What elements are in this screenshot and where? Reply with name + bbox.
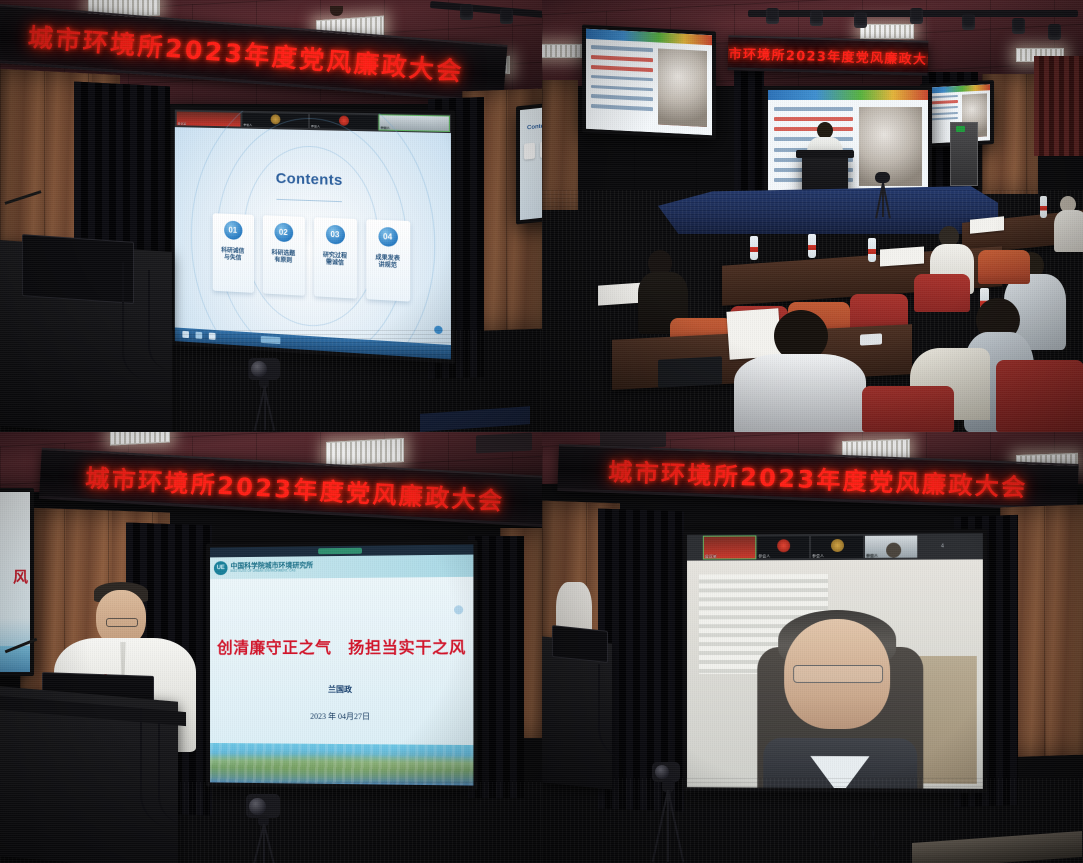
slide-headline: 创清廉守正之气 扬担当实干之风	[210, 633, 473, 658]
vc-thumbnail[interactable]: 参会人	[865, 536, 917, 558]
slide-text-line-highlight	[591, 65, 653, 72]
exit-sign-icon	[956, 126, 965, 132]
slide-body	[774, 107, 921, 186]
projection-screen-surface: UE 中国科学院城市环境研究所 INSTITUTE OF URBAN ENVIR…	[210, 544, 473, 785]
stage-spotlight	[1012, 18, 1025, 34]
vc-thumbnail-label: 参会人	[812, 554, 824, 558]
remote-participant-video	[687, 559, 983, 788]
vc-thumbnail-label: 会议室	[178, 122, 186, 125]
side-screen-right: Contents	[516, 101, 542, 224]
projection-screen: 会议室 参会人 参会人 参会人 4	[683, 529, 987, 793]
water-bottle	[808, 234, 816, 258]
slide-decor-dot	[454, 605, 463, 614]
slide-text-line	[774, 107, 853, 111]
cable	[598, 664, 630, 760]
contents-card: 01 科研诚信 与失信	[212, 213, 253, 293]
paper-document	[880, 246, 924, 266]
projection-screen: UE 中国科学院城市环境研究所 INSTITUTE OF URBAN ENVIR…	[206, 540, 477, 789]
camera-tripod	[238, 794, 294, 863]
camera-lens-icon	[251, 361, 267, 377]
stage-spotlight	[854, 12, 867, 28]
vc-avatar-icon	[831, 539, 844, 552]
paragraph-slide	[768, 90, 928, 194]
projection-screen-surface	[768, 90, 928, 194]
contents-card: 02 科研选题 有原则	[262, 215, 304, 296]
vc-participant-head	[886, 542, 901, 557]
contents-card-number: 03	[325, 224, 344, 244]
side-screen-surface	[586, 29, 712, 136]
slide-text-line	[591, 75, 653, 82]
projection-screen	[764, 86, 932, 198]
vc-thumbnail[interactable]: 会议室	[704, 536, 755, 558]
toolbar-pill[interactable]	[318, 548, 362, 554]
speaker-glasses	[106, 618, 138, 627]
contents-card: 03 研究过程 需诚信	[313, 217, 356, 298]
audience-member-foreground	[734, 310, 864, 432]
cable	[158, 720, 186, 824]
contents-card: 04 成果发表 讲规范	[366, 219, 410, 301]
camera-lens-icon	[655, 765, 669, 779]
projection-screen-surface: 会议室 参会人 参会人 参会人	[175, 110, 451, 360]
contents-card-row: 01 科研诚信 与失信 02 科研选题 有原则 03 研究过程 需诚信 04	[175, 211, 451, 303]
contents-card-label: 科研诚信 与失信	[221, 247, 244, 263]
stage-curtain-left	[734, 64, 764, 194]
vc-thumbnail[interactable]: 参会人	[757, 536, 809, 558]
title-slide: UE 中国科学院城市环境研究所 INSTITUTE OF URBAN ENVIR…	[210, 555, 473, 786]
contents-card-number: 02	[274, 222, 293, 242]
camera-body	[875, 172, 890, 183]
org-logo-icon: UE	[214, 561, 228, 575]
stage-spotlight	[766, 8, 779, 24]
led-banner-text: 城市环境所2023年度党风廉政大会	[728, 42, 929, 67]
contents-slide: Contents 01 科研诚信 与失信 02 科研选题 有原则 03	[175, 127, 451, 345]
contents-card-number: 04	[378, 226, 397, 246]
ceiling-vent	[476, 433, 532, 454]
podium-monitor	[22, 234, 134, 304]
water-bottle	[868, 238, 876, 262]
water-bottle	[750, 236, 758, 260]
projection-screen-surface: 会议室 参会人 参会人 参会人 4	[687, 533, 983, 789]
theater-seat	[978, 250, 1030, 284]
slide-text-column	[591, 45, 653, 124]
led-banner-text: 城市环境所2023年度党风廉政大会	[608, 451, 1029, 502]
slide-text-line	[591, 45, 653, 52]
slide-color-bar	[924, 84, 990, 93]
contents-card-label: 科研选题 有原则	[272, 250, 296, 266]
side-screen-left	[582, 24, 716, 139]
stage-spotlight	[910, 8, 923, 24]
tripod-leg	[264, 386, 266, 430]
water-bottle	[1040, 196, 1047, 218]
vc-thumbnail-label: 会议室	[705, 555, 717, 559]
vc-thumbnail[interactable]: 参会人	[811, 536, 863, 558]
slide-text-line-highlight	[774, 117, 853, 121]
theater-seat	[996, 360, 1083, 432]
org-logo-text-group: 中国科学院城市环境研究所 INSTITUTE OF URBAN ENVIRONM…	[230, 562, 313, 573]
ceiling-light	[326, 438, 404, 466]
cable	[148, 270, 172, 370]
photo-collage: 城市环境所2023年度党风廉政大会 Contents 会议室	[0, 0, 1083, 863]
audience-member	[1054, 196, 1083, 252]
vc-avatar-icon	[777, 539, 790, 552]
ceiling-light	[542, 44, 582, 58]
person-body	[1054, 210, 1083, 252]
contents-card-number: 01	[224, 220, 242, 239]
stage-spotlight	[460, 4, 473, 20]
tripod-leg	[263, 824, 265, 863]
participant-glasses	[793, 665, 884, 683]
stage-spotlight	[1048, 24, 1061, 40]
side-curtain	[1034, 56, 1083, 156]
podium-top	[796, 150, 854, 158]
tripod-leg	[667, 790, 684, 863]
panel-bottom-right: 城市环境所2023年度党风廉政大会 会议室 参会人 参会人	[542, 432, 1083, 863]
video-call-main-view	[687, 559, 983, 788]
panel-bottom-left: 城市环境所2023年度党风廉政大会 风 UE	[0, 432, 542, 863]
video-call-thumbnail-strip: 会议室 参会人 参会人 参会人 4	[687, 533, 983, 560]
org-logo-bar: UE 中国科学院城市环境研究所 INSTITUTE OF URBAN ENVIR…	[210, 555, 473, 580]
tripod-leg	[667, 790, 669, 862]
slide-date: 2023 年 04月27日	[210, 710, 473, 722]
laptop	[658, 356, 722, 387]
slide-text-line-highlight	[591, 55, 653, 62]
slide-text-line	[591, 104, 653, 111]
person-body	[734, 354, 866, 432]
contents-card-label: 研究过程 需诚信	[323, 252, 347, 268]
ceiling-light	[860, 24, 914, 39]
org-name-english: INSTITUTE OF URBAN ENVIRONMENT, CAS	[230, 569, 313, 573]
slide-text-line	[591, 94, 653, 101]
stage-spotlight	[962, 14, 975, 30]
vc-thumbnail-label: 参会人	[758, 554, 770, 558]
side-screen-card	[524, 143, 535, 160]
stage-spotlight	[810, 10, 823, 26]
side-screen-title: Contents	[522, 122, 542, 132]
vc-participant-count: 4	[919, 535, 965, 557]
vc-thumbnail-label: 参会人	[866, 554, 878, 558]
stage-spotlight	[500, 8, 513, 24]
camera-tripod	[870, 172, 896, 220]
slide-color-bar	[768, 90, 928, 100]
camera-lens-icon	[249, 798, 266, 815]
slide-color-bar	[586, 29, 712, 46]
contents-card-label: 成果发表 讲规范	[375, 255, 400, 271]
projection-screen: 会议室 参会人 参会人 参会人	[171, 106, 455, 364]
slide-body	[591, 45, 707, 127]
camera-tripod	[240, 358, 290, 432]
slide-presenter-name: 兰国政	[210, 683, 473, 695]
panel-top-left: 城市环境所2023年度党风廉政大会 Contents 会议室	[0, 0, 542, 432]
slide-text-line	[591, 84, 653, 91]
side-screen-surface: Contents	[520, 106, 542, 220]
led-banner: 城市环境所2023年度党风廉政大会	[728, 35, 929, 76]
slide-island-photo	[210, 743, 473, 786]
slide-image	[658, 48, 707, 127]
theater-seat	[862, 386, 954, 432]
paragraph-slide	[586, 29, 712, 136]
side-screen-text: 风	[13, 566, 28, 587]
tripod-leg	[882, 183, 884, 217]
podium-monitor	[552, 625, 608, 663]
cable	[122, 262, 150, 380]
camera-tripod	[642, 762, 696, 863]
panel-top-right: 城市环境所2023年度党风廉政大会	[542, 0, 1083, 432]
